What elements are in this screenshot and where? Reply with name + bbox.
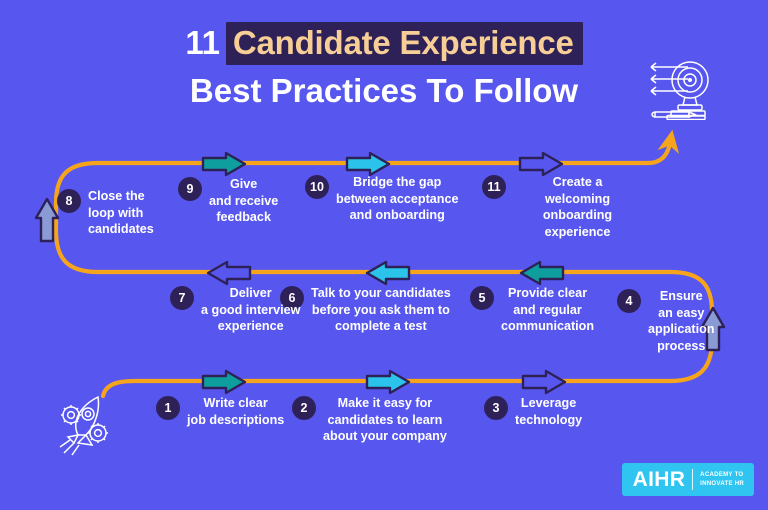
flow-arrow-right-hollow-bottom — [520, 369, 568, 395]
step-5-badge: 5 — [470, 286, 494, 310]
step-3[interactable]: 3 Leverage technology — [484, 395, 614, 428]
step-5-line-3: communication — [501, 318, 594, 335]
step-2-badge: 2 — [292, 396, 316, 420]
title-block: 11Candidate Experience Best Practices To… — [0, 22, 768, 107]
flow-arrow-right-teal-top — [200, 151, 248, 177]
step-11-line-2: welcoming onboarding — [513, 191, 642, 224]
step-9-text: Give and receive feedback — [209, 176, 278, 226]
logo-tagline-line-2: INNOVATE HR — [700, 480, 744, 489]
step-4-line-3: application — [648, 321, 714, 338]
step-10-text: Bridge the gap between acceptance and on… — [336, 174, 459, 224]
step-7-line-2: a good interview — [201, 302, 300, 319]
step-7-badge: 7 — [170, 286, 194, 310]
step-11-line-1: Create a — [513, 174, 642, 191]
step-6-text: Talk to your candidates before you ask t… — [311, 285, 451, 335]
step-11-text: Create a welcoming onboarding experience — [513, 174, 642, 241]
step-4-line-2: an easy — [648, 305, 714, 322]
step-9-line-2: and receive — [209, 193, 278, 210]
step-5-text: Provide clear and regular communication — [501, 285, 594, 335]
step-4-line-1: Ensure — [648, 288, 714, 305]
step-2-line-2: candidates to learn — [323, 412, 447, 429]
logo-wordmark: AIHR — [633, 469, 686, 490]
step-6-line-1: Talk to your candidates — [311, 285, 451, 302]
step-4-text: Ensure an easy application process — [648, 288, 714, 355]
step-9[interactable]: 9 Give and receive feedback — [178, 176, 303, 226]
step-3-badge: 3 — [484, 396, 508, 420]
step-5-line-1: Provide clear — [501, 285, 594, 302]
step-4[interactable]: 4 Ensure an easy application process — [617, 288, 727, 355]
step-9-line-3: feedback — [209, 209, 278, 226]
step-8-text: Close the loop with candidates — [88, 188, 154, 238]
step-1-text: Write clear job descriptions — [187, 395, 284, 428]
rocket-gears-icon — [48, 385, 128, 470]
step-9-line-1: Give — [209, 176, 278, 193]
title-highlight: Candidate Experience — [226, 22, 583, 65]
step-7-text: Deliver a good interview experience — [201, 285, 300, 335]
infographic-canvas: 11Candidate Experience Best Practices To… — [0, 0, 768, 510]
flow-arrow-left-cyan-middle — [364, 260, 412, 286]
step-10-badge: 10 — [305, 175, 329, 199]
step-2-line-1: Make it easy for — [323, 395, 447, 412]
title-line-2: Best Practices To Follow — [0, 74, 768, 107]
step-1-line-1: Write clear — [187, 395, 284, 412]
step-1-line-2: job descriptions — [187, 412, 284, 429]
logo-tagline: ACADEMY TO INNOVATE HR — [700, 471, 744, 489]
step-10-line-1: Bridge the gap — [336, 174, 459, 191]
title-count: 11 — [185, 24, 220, 61]
step-4-line-4: process — [648, 338, 714, 355]
step-8-line-3: candidates — [88, 221, 154, 238]
flow-arrow-left-teal-middle — [518, 260, 566, 286]
logo-tagline-line-1: ACADEMY TO — [700, 471, 744, 480]
step-3-line-2: technology — [515, 412, 582, 429]
step-11[interactable]: 11 Create a welcoming onboarding experie… — [482, 174, 642, 241]
step-8-line-2: loop with — [88, 205, 154, 222]
step-3-text: Leverage technology — [515, 395, 582, 428]
flow-arrow-left-hollow-middle — [205, 260, 253, 286]
step-8-badge: 8 — [57, 189, 81, 213]
step-9-badge: 9 — [178, 177, 202, 201]
step-8[interactable]: 8 Close the loop with candidates — [57, 188, 187, 238]
step-7-line-1: Deliver — [201, 285, 300, 302]
step-11-badge: 11 — [482, 175, 506, 199]
step-8-line-1: Close the — [88, 188, 154, 205]
step-7[interactable]: 7 Deliver a good interview experience — [170, 285, 310, 335]
step-10-line-2: between acceptance — [336, 191, 459, 208]
step-11-line-3: experience — [513, 224, 642, 241]
step-6-line-2: before you ask them to — [311, 302, 451, 319]
step-2-text: Make it easy for candidates to learn abo… — [323, 395, 447, 445]
step-2-line-3: about your company — [323, 428, 447, 445]
step-10-line-3: and onboarding — [336, 207, 459, 224]
step-5[interactable]: 5 Provide clear and regular communicatio… — [470, 285, 620, 335]
step-10[interactable]: 10 Bridge the gap between acceptance and… — [305, 174, 470, 224]
step-1-badge: 1 — [156, 396, 180, 420]
logo-divider — [692, 469, 693, 490]
step-4-badge: 4 — [617, 289, 641, 313]
step-7-line-3: experience — [201, 318, 300, 335]
step-3-line-1: Leverage — [515, 395, 582, 412]
step-2[interactable]: 2 Make it easy for candidates to learn a… — [292, 395, 472, 445]
title-line-1: 11Candidate Experience — [0, 22, 768, 65]
flow-arrow-right-teal-bottom — [200, 369, 248, 395]
flow-arrow-right-cyan-bottom — [364, 369, 412, 395]
aihr-logo[interactable]: AIHR ACADEMY TO INNOVATE HR — [622, 463, 754, 496]
step-1[interactable]: 1 Write clear job descriptions — [156, 395, 306, 428]
step-5-line-2: and regular — [501, 302, 594, 319]
step-6-line-3: complete a test — [311, 318, 451, 335]
